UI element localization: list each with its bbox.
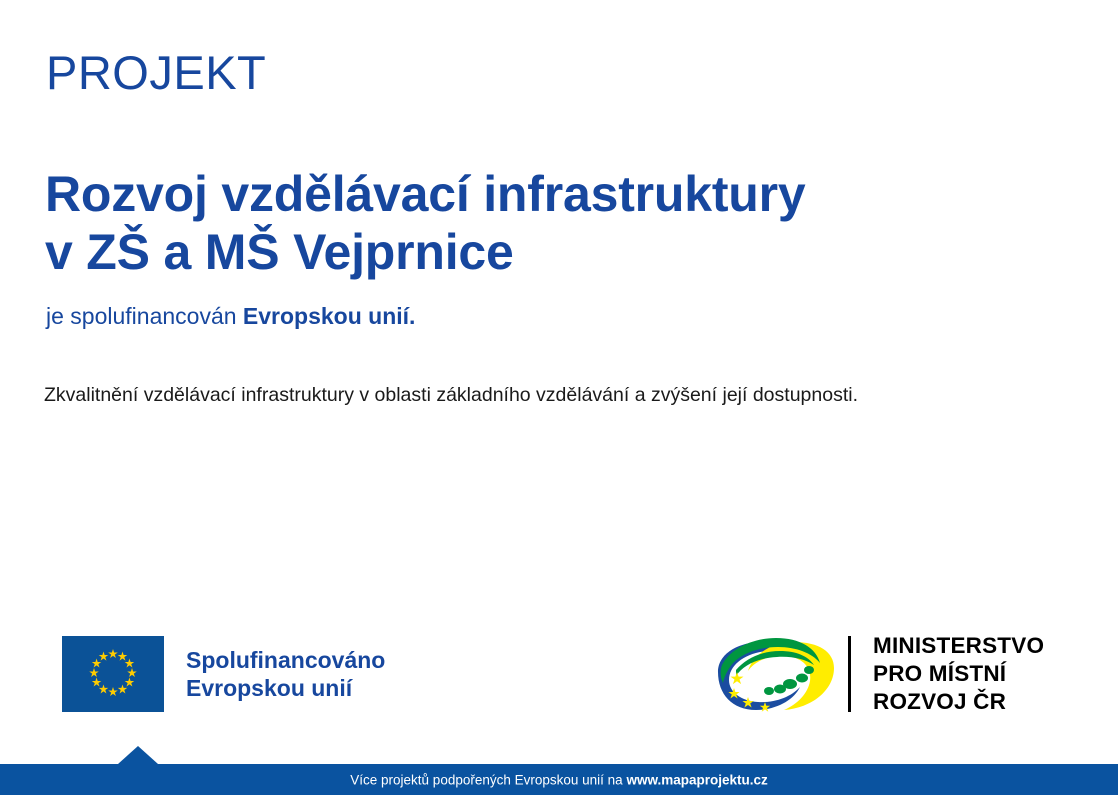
footer-bar: Více projektů podpořených Evropskou unií… [0, 764, 1118, 795]
logo-row: Spolufinancováno Evropskou unií [0, 620, 1118, 725]
ministry-name-line-2: PRO MÍSTNÍ [873, 660, 1044, 688]
page-title-line-2: v ZŠ a MŠ Vejprnice [45, 223, 1065, 281]
funding-statement: je spolufinancován Evropskou unií. [46, 303, 415, 331]
eu-funding-line-2: Evropskou unií [186, 674, 385, 702]
project-description: Zkvalitnění vzdělávací infrastruktury v … [44, 383, 1084, 408]
ministry-emblem-icon [712, 632, 840, 716]
footer-lead: Více projektů podpořených Evropskou unií… [350, 772, 626, 787]
ministry-name-line-3: ROZVOJ ČR [873, 688, 1044, 716]
funding-statement-lead: je spolufinancován [46, 303, 243, 329]
page-title-line-1: Rozvoj vzdělávací infrastruktury [45, 165, 1065, 223]
page-title: Rozvoj vzdělávací infrastruktury v ZŠ a … [45, 165, 1065, 281]
funding-statement-emphasis: Evropskou unií. [243, 303, 416, 329]
publicity-poster: PROJEKT Rozvoj vzdělávací infrastruktury… [0, 0, 1118, 795]
eu-funding-lockup: Spolufinancováno Evropskou unií [62, 636, 385, 712]
eu-funding-text: Spolufinancováno Evropskou unií [186, 646, 385, 702]
eu-flag-icon [62, 636, 164, 712]
eyebrow-label: PROJEKT [46, 48, 266, 97]
ministry-lockup: MINISTERSTVO PRO MÍSTNÍ ROZVOJ ČR [712, 632, 1044, 716]
footer-url-link[interactable]: www.mapaprojektu.cz [626, 772, 767, 787]
ministry-name-line-1: MINISTERSTVO [873, 632, 1044, 660]
eu-funding-line-1: Spolufinancováno [186, 646, 385, 674]
footer-text: Více projektů podpořených Evropskou unií… [0, 773, 1118, 787]
footer-notch-triangle [118, 746, 158, 764]
ministry-name: MINISTERSTVO PRO MÍSTNÍ ROZVOJ ČR [873, 632, 1044, 715]
ministry-divider [848, 636, 851, 712]
